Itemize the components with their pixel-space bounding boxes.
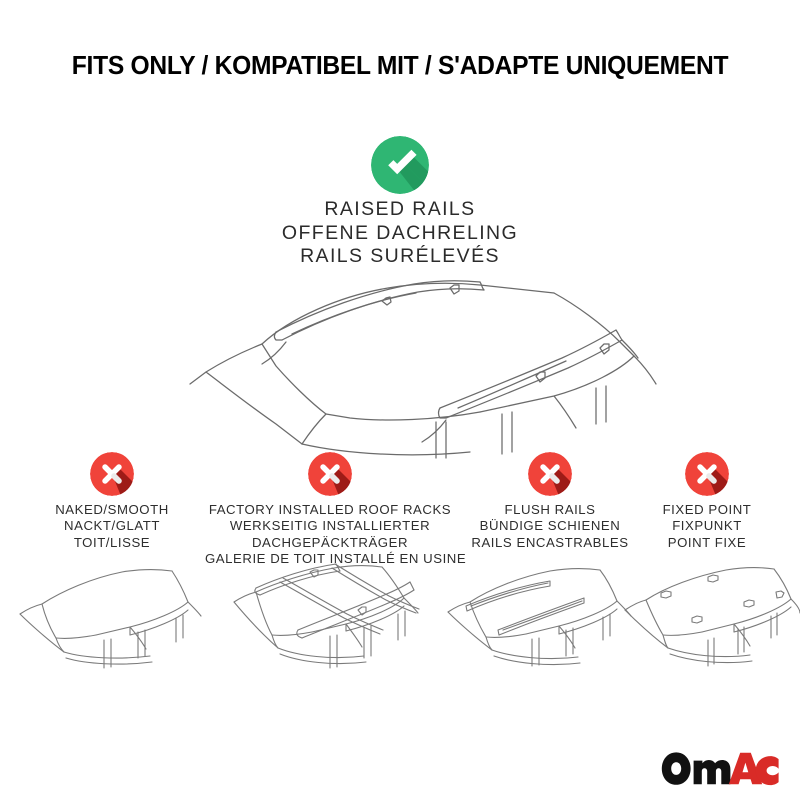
incompatible-label-line-3: DACHGEPÄCKTRÄGER [205, 535, 455, 551]
car-roof-fixed-point-illustration [618, 558, 800, 690]
incompatible-labels: NAKED/SMOOTH NACKT/GLATT TOIT/LISSE [12, 502, 212, 551]
incompatible-label-line-3: RAILS ENCASTRABLES [448, 535, 652, 551]
incompatible-label-line-3: POINT FIXE [628, 535, 786, 551]
compatible-label-line-1: RAISED RAILS [0, 198, 800, 222]
incompatible-label-line-2: NACKT/GLATT [12, 518, 212, 534]
compatible-label-line-3: RAILS SURÉLEVÉS [0, 245, 800, 269]
incompatible-label-line-1: FACTORY INSTALLED ROOF RACKS [205, 502, 455, 518]
car-roof-factory-racks-illustration [212, 558, 430, 690]
incompatible-label-line-2: BÜNDIGE SCHIENEN [448, 518, 652, 534]
omac-logo [661, 750, 779, 786]
cross-circle-icon [528, 452, 572, 496]
car-roof-naked-smooth-illustration [8, 558, 204, 688]
car-roof-flush-rails-illustration [440, 558, 640, 690]
incompatible-label-line-2: WERKSEITIG INSTALLIERTER [205, 518, 455, 534]
incompatible-label-line-2: FIXPUNKT [628, 518, 786, 534]
incompatible-labels: FIXED POINT FIXPUNKT POINT FIXE [628, 502, 786, 551]
check-circle-icon [371, 136, 429, 194]
cross-circle-icon [308, 452, 352, 496]
incompatible-label-line-1: NAKED/SMOOTH [12, 502, 212, 518]
incompatible-label-line-1: FLUSH RAILS [448, 502, 652, 518]
incompatible-labels: FLUSH RAILS BÜNDIGE SCHIENEN RAILS ENCAS… [448, 502, 652, 551]
incompatible-label-line-1: FIXED POINT [628, 502, 786, 518]
cross-circle-icon [685, 452, 729, 496]
compatible-label-line-2: OFFENE DACHRELING [0, 222, 800, 246]
compatible-labels: RAISED RAILS OFFENE DACHRELING RAILS SUR… [0, 198, 800, 269]
car-roof-raised-rails-illustration [150, 272, 670, 462]
cross-circle-icon [90, 452, 134, 496]
incompatible-label-line-3: TOIT/LISSE [12, 535, 212, 551]
page-title: FITS ONLY / KOMPATIBEL MIT / S'ADAPTE UN… [14, 52, 786, 81]
